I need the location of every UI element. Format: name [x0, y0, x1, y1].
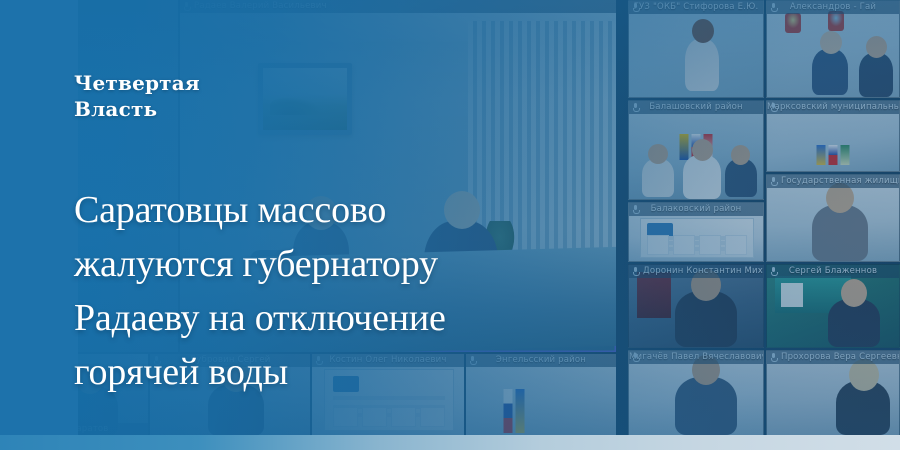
headline-line-1: Саратовцы массово	[74, 183, 640, 237]
site-logo-line1: Четвертая	[74, 70, 354, 96]
headline-line-4: горячей воды	[74, 345, 640, 399]
article-headline[interactable]: Саратовцы массово жалуются губернатору Р…	[74, 183, 640, 399]
site-logo[interactable]: Четвертая Власть	[74, 70, 354, 122]
headline-line-3: Радаеву на отключение	[74, 291, 640, 345]
headline-line-2: жалуются губернатору	[74, 237, 640, 291]
cover-content: Четвертая Власть Саратовцы массово жалую…	[0, 0, 900, 450]
article-cover-card: Радаев Валерий Васильевич ГУЗ "ОКБ" Стиф…	[0, 0, 900, 450]
site-logo-line2: Власть	[74, 96, 354, 122]
